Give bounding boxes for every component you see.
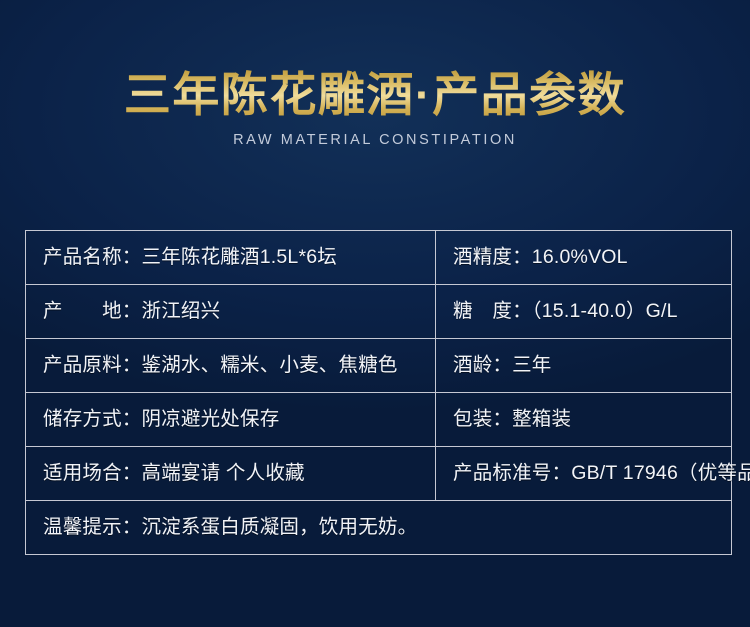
- spec-cell-age: 酒龄：三年: [436, 339, 732, 393]
- spec-cell-text: 酒龄：三年: [453, 356, 731, 376]
- spec-cell-text: 包装：整箱装: [453, 410, 731, 430]
- table-row: 适用场合：高端宴请 个人收藏 产品标准号：GB/T 17946（优等品）: [26, 447, 732, 501]
- spec-cell-text: 储存方式：阴凉避光处保存: [43, 410, 435, 430]
- product-spec-table: 产品名称：三年陈花雕酒1.5L*6坛 酒精度：16.0%VOL 产 地：浙江绍兴…: [25, 230, 732, 555]
- spec-cell-ingredients: 产品原料：鉴湖水、糯米、小麦、焦糖色: [26, 339, 436, 393]
- table-row: 产品原料：鉴湖水、糯米、小麦、焦糖色 酒龄：三年: [26, 339, 732, 393]
- table-row: 产品名称：三年陈花雕酒1.5L*6坛 酒精度：16.0%VOL: [26, 231, 732, 285]
- spec-cell-note: 温馨提示：沉淀系蛋白质凝固，饮用无妨。: [26, 501, 732, 555]
- spec-cell-origin: 产 地：浙江绍兴: [26, 285, 436, 339]
- spec-cell-occasion: 适用场合：高端宴请 个人收藏: [26, 447, 436, 501]
- spec-cell-text: 酒精度：16.0%VOL: [453, 248, 731, 268]
- spec-cell-text: 糖 度：（15.1-40.0）G/L: [453, 302, 731, 322]
- spec-cell-packaging: 包装：整箱装: [436, 393, 732, 447]
- spec-cell-product-name: 产品名称：三年陈花雕酒1.5L*6坛: [26, 231, 436, 285]
- spec-cell-text: 产品名称：三年陈花雕酒1.5L*6坛: [43, 248, 435, 268]
- spec-cell-sugar: 糖 度：（15.1-40.0）G/L: [436, 285, 732, 339]
- page-header: 三年陈花雕酒·产品参数 RAW MATERIAL CONSTIPATION: [0, 66, 750, 148]
- spec-cell-standard-no: 产品标准号：GB/T 17946（优等品）: [436, 447, 732, 501]
- spec-cell-text: 产品原料：鉴湖水、糯米、小麦、焦糖色: [43, 356, 435, 376]
- product-spec-page: 三年陈花雕酒·产品参数 RAW MATERIAL CONSTIPATION 产品…: [0, 0, 750, 627]
- table-row: 温馨提示：沉淀系蛋白质凝固，饮用无妨。: [26, 501, 732, 555]
- table-row: 储存方式：阴凉避光处保存 包装：整箱装: [26, 393, 732, 447]
- spec-cell-storage: 储存方式：阴凉避光处保存: [26, 393, 436, 447]
- table-row: 产 地：浙江绍兴 糖 度：（15.1-40.0）G/L: [26, 285, 732, 339]
- spec-cell-text: 适用场合：高端宴请 个人收藏: [43, 464, 435, 484]
- spec-cell-text: 温馨提示：沉淀系蛋白质凝固，饮用无妨。: [43, 518, 731, 538]
- page-subtitle: RAW MATERIAL CONSTIPATION: [0, 132, 750, 148]
- page-title: 三年陈花雕酒·产品参数: [0, 66, 750, 123]
- spec-cell-text: 产品标准号：GB/T 17946（优等品）: [453, 464, 731, 484]
- spec-cell-text: 产 地：浙江绍兴: [43, 302, 435, 322]
- spec-cell-alcohol: 酒精度：16.0%VOL: [436, 231, 732, 285]
